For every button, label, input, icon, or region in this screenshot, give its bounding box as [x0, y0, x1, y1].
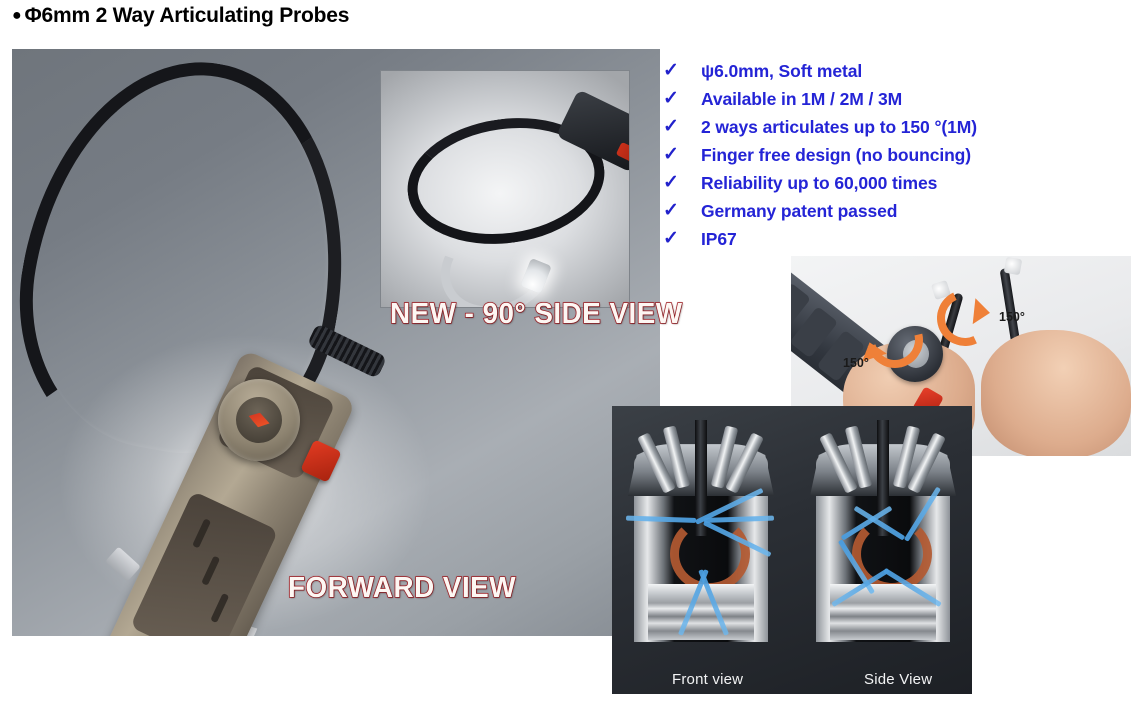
grip-slot [201, 556, 220, 586]
dial-face [228, 389, 289, 450]
cylinder-side-view [808, 420, 958, 642]
angle-label-left: 150° [843, 356, 869, 370]
probe-side-view-inset-photo [380, 70, 630, 308]
feature-item: ✓ ψ6.0mm, Soft metal [663, 58, 1123, 86]
side-view-overlay-label: NEW - 90° SIDE VIEW [390, 298, 683, 331]
title-bullet-icon: ● [12, 8, 21, 24]
feature-label: Reliability up to 60,000 times [701, 170, 937, 196]
probe-tip-right [1004, 257, 1023, 276]
feature-label: 2 ways articulates up to 150 °(1M) [701, 114, 977, 140]
page-title-text: Φ6mm 2 Way Articulating Probes [24, 4, 349, 28]
grip-slot [210, 593, 229, 623]
check-icon: ✓ [663, 114, 701, 140]
feature-label: ψ6.0mm, Soft metal [701, 58, 862, 84]
diagram-caption-front: Front view [672, 671, 743, 688]
engine-cylinder-inspection-diagram: Front view Side View [612, 406, 972, 694]
feature-label: IP67 [701, 226, 737, 252]
check-icon: ✓ [663, 86, 701, 112]
handle-grip-lower [130, 491, 279, 636]
check-icon: ✓ [663, 198, 701, 224]
right-hand [981, 330, 1131, 456]
check-icon: ✓ [663, 142, 701, 168]
feature-item: ✓ IP67 [663, 226, 1123, 254]
feature-item: ✓ 2 ways articulates up to 150 °(1M) [663, 114, 1123, 142]
feature-item: ✓ Finger free design (no bouncing) [663, 142, 1123, 170]
check-icon: ✓ [663, 58, 701, 84]
feature-label: Finger free design (no bouncing) [701, 142, 971, 168]
diagram-caption-side: Side View [864, 671, 932, 688]
rotation-arrow-right-head-icon [973, 298, 992, 326]
page-title: ● Φ6mm 2 Way Articulating Probes [12, 4, 349, 28]
slide-page: ● Φ6mm 2 Way Articulating Probes [0, 0, 1132, 725]
angle-label-right: 150° [999, 310, 1025, 324]
feature-item: ✓ Available in 1M / 2M / 3M [663, 86, 1123, 114]
feature-item: ✓ Germany patent passed [663, 198, 1123, 226]
grip-slot [192, 518, 211, 548]
check-icon: ✓ [663, 170, 701, 196]
feature-label: Available in 1M / 2M / 3M [701, 86, 902, 112]
feature-item: ✓ Reliability up to 60,000 times [663, 170, 1123, 198]
feature-label: Germany patent passed [701, 198, 897, 224]
check-icon: ✓ [663, 226, 701, 252]
feature-list: ✓ ψ6.0mm, Soft metal ✓ Available in 1M /… [663, 58, 1123, 254]
tip-ferrule [105, 547, 141, 582]
forward-view-overlay-label: FORWARD VIEW [288, 572, 516, 605]
brand-logo-icon [246, 409, 272, 431]
cylinder-front-view [626, 420, 776, 642]
piston [648, 584, 754, 640]
